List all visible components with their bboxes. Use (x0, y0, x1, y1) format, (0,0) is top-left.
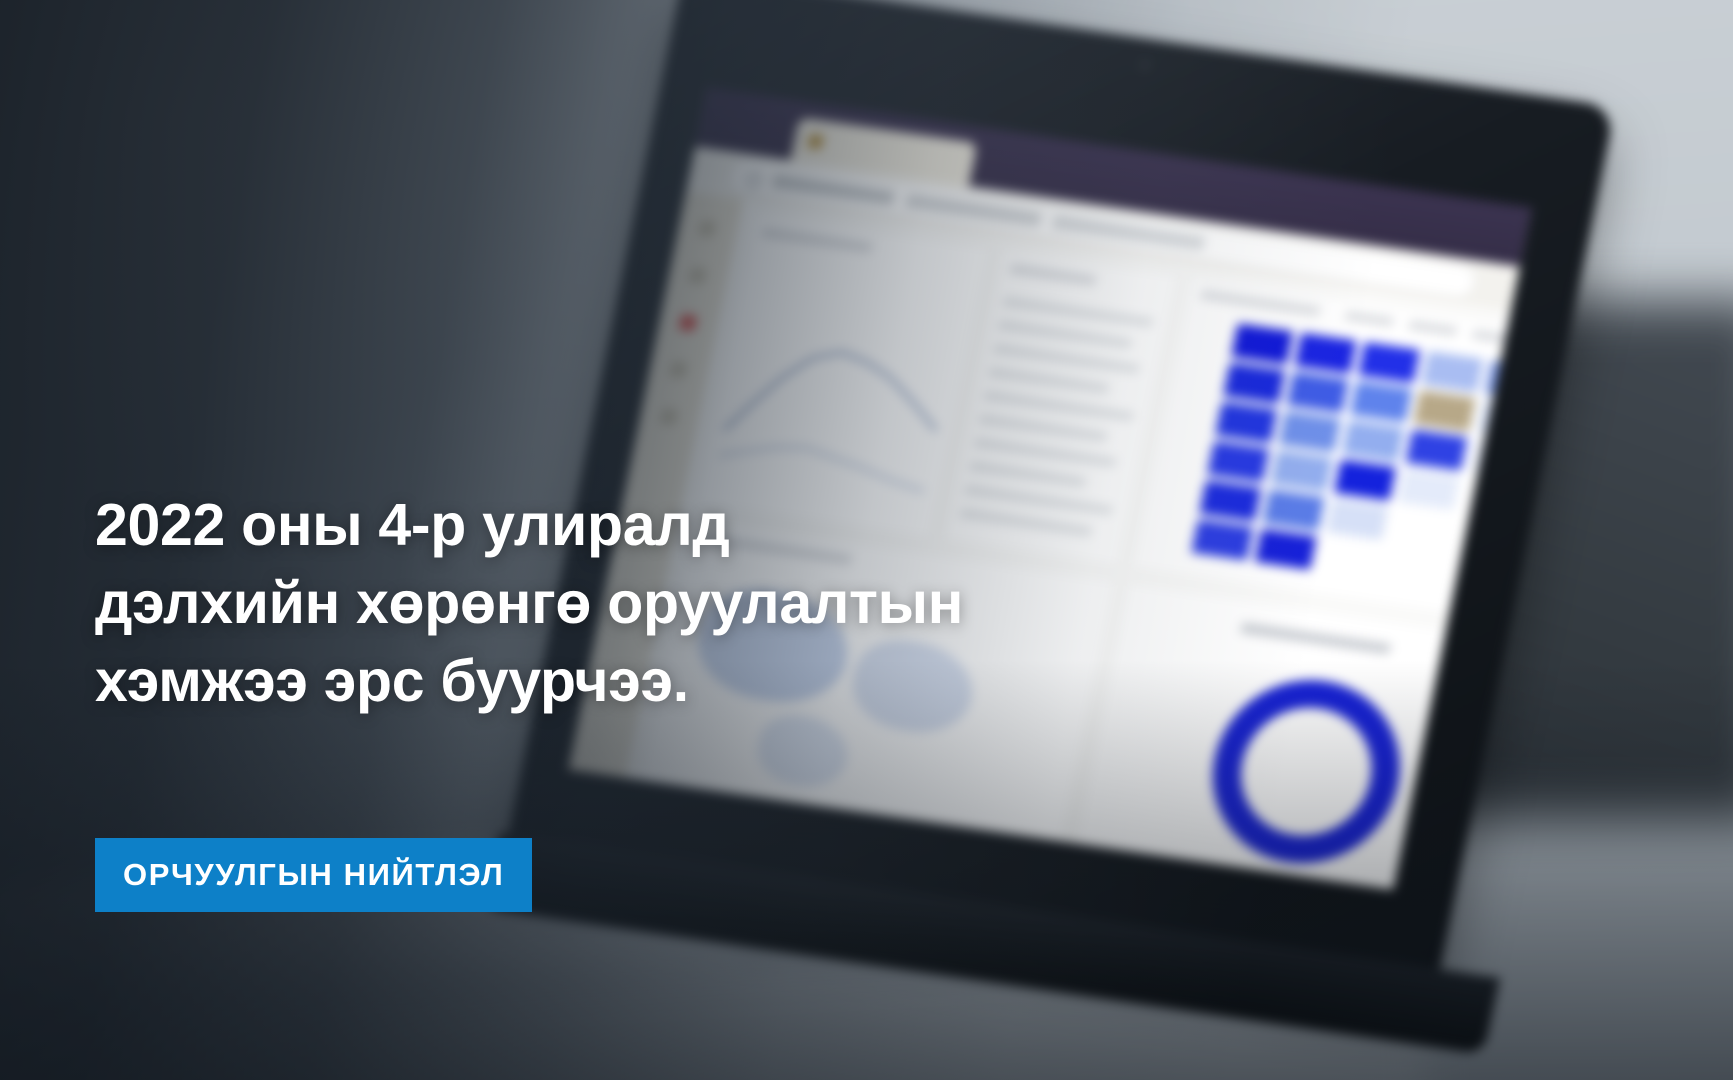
headline-line-2: дэлхийн хөрөнгө оруулалтын (95, 564, 1215, 642)
headline-line-3: хэмжээ эрс буурчээ. (95, 642, 1215, 720)
headline-block: 2022 оны 4-р улиралд дэлхийн хөрөнгө ору… (95, 486, 1215, 720)
category-badge[interactable]: ОРЧУУЛГЫН НИЙТЛЭЛ (95, 838, 532, 912)
page-title: 2022 оны 4-р улиралд дэлхийн хөрөнгө ору… (95, 486, 1215, 720)
article-hero-card: 2022 оны 4-р улиралд дэлхийн хөрөнгө ору… (0, 0, 1733, 1080)
headline-line-1: 2022 оны 4-р улиралд (95, 486, 1215, 564)
